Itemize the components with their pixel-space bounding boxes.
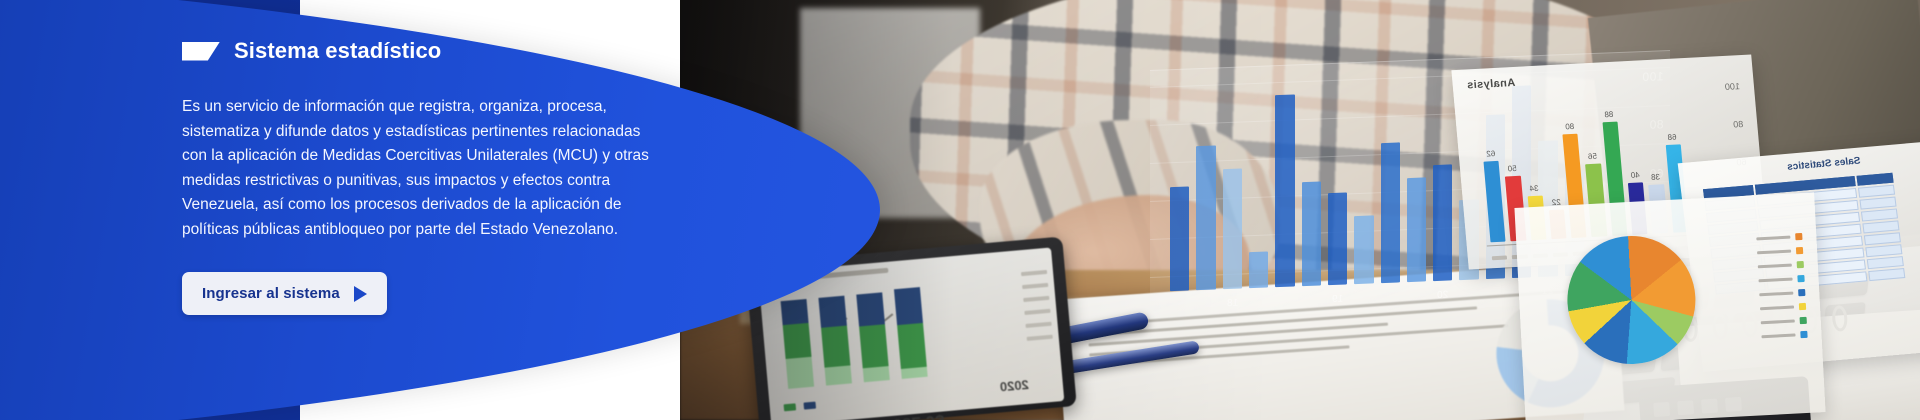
ar-chart-bar bbox=[1249, 251, 1268, 288]
ar-category-label: 19 bbox=[1328, 293, 1347, 305]
pie-legend-swatch bbox=[1795, 233, 1802, 240]
tablet-year-label: 2020 bbox=[999, 377, 1029, 394]
analysis-bar-value: 34 bbox=[1529, 184, 1539, 193]
enter-system-button[interactable]: Ingresar al sistema bbox=[182, 272, 387, 315]
analysis-axis-tick: 100 bbox=[1724, 81, 1740, 92]
ar-chart-bar bbox=[1275, 94, 1294, 287]
sales-statistics-title: Sales Statistics bbox=[1787, 156, 1861, 173]
tablet-bar-segment bbox=[825, 365, 852, 385]
pie-legend-item bbox=[1761, 317, 1807, 326]
table-cell bbox=[1867, 256, 1904, 269]
tablet-bar-segment bbox=[897, 323, 927, 369]
analysis-bar-value: 68 bbox=[1668, 132, 1678, 141]
ar-category-label bbox=[1459, 288, 1478, 300]
analysis-bar-value: 56 bbox=[1588, 152, 1598, 161]
ar-chart-bar bbox=[1170, 186, 1189, 291]
ar-category-label bbox=[1486, 287, 1505, 299]
ar-category-label: 18 bbox=[1223, 297, 1242, 309]
pie-legend-swatch bbox=[1797, 275, 1804, 282]
table-cell bbox=[1859, 197, 1896, 210]
pie-legend-item bbox=[1758, 275, 1804, 284]
tablet-bar-segment bbox=[859, 324, 889, 368]
tablet-bar-segment bbox=[783, 323, 812, 359]
analysis-bar-value: 62 bbox=[1486, 149, 1496, 158]
enter-system-button-label: Ingresar al sistema bbox=[202, 285, 340, 302]
ar-category-label bbox=[1196, 298, 1215, 310]
analysis-panel-title: Analysis bbox=[1466, 77, 1515, 91]
tablet-bar-segment bbox=[786, 357, 815, 389]
analysis-bar-value: 80 bbox=[1565, 122, 1575, 131]
pie-legend-label bbox=[1761, 333, 1795, 338]
legend-swatch-blue bbox=[803, 402, 816, 410]
hero-heading-row: Sistema estadístico bbox=[182, 38, 702, 64]
tablet-bar bbox=[818, 296, 852, 386]
pie-legend-label bbox=[1757, 250, 1791, 255]
tablet-bar-segment bbox=[863, 366, 890, 382]
pie-legend-label bbox=[1759, 278, 1793, 283]
table-cell bbox=[1861, 208, 1898, 221]
analysis-axis-tick: 80 bbox=[1728, 119, 1744, 130]
pie-legend-swatch bbox=[1797, 261, 1804, 268]
ar-chart-bar bbox=[1328, 192, 1347, 285]
tablet-stacked-bar-chart bbox=[780, 287, 927, 389]
ar-chart-bar bbox=[1196, 145, 1215, 290]
pie-chart-legend bbox=[1756, 233, 1807, 340]
table-cell bbox=[1868, 268, 1905, 281]
ar-category-label bbox=[1407, 290, 1426, 302]
ar-category-label: 20 bbox=[1433, 289, 1452, 301]
pie-legend-item bbox=[1759, 289, 1805, 298]
pie-legend-swatch bbox=[1798, 289, 1805, 296]
tablet-bar-segment bbox=[856, 292, 885, 326]
pie-legend-label bbox=[1758, 264, 1792, 269]
tablet-bar bbox=[894, 287, 928, 379]
table-cell bbox=[1862, 220, 1899, 233]
table-cell bbox=[1858, 185, 1895, 198]
ar-chart-bar bbox=[1223, 168, 1242, 289]
pie-legend-label bbox=[1756, 236, 1790, 241]
pie-legend-label bbox=[1760, 306, 1794, 311]
table-cell bbox=[1865, 244, 1902, 257]
analysis-bar: 62 bbox=[1484, 161, 1506, 242]
ar-category-label bbox=[1249, 296, 1268, 308]
tablet-bar-segment bbox=[821, 326, 850, 368]
play-triangle-icon bbox=[354, 286, 367, 302]
hero-banner: 2020 $6,789 10080604020 18192021 Analysi… bbox=[0, 0, 1920, 420]
table-cell bbox=[1857, 173, 1894, 186]
flag-parallelogram-icon bbox=[182, 42, 220, 61]
pie-chart-panel bbox=[1514, 192, 1825, 420]
page-title: Sistema estadístico bbox=[234, 38, 441, 64]
pie-legend-item bbox=[1758, 261, 1804, 270]
pie-legend-item bbox=[1761, 331, 1807, 340]
ar-category-label bbox=[1302, 294, 1321, 306]
pie-legend-swatch bbox=[1800, 331, 1807, 338]
ar-category-label bbox=[1170, 299, 1189, 311]
ar-chart-bar bbox=[1302, 181, 1321, 286]
ar-category-label bbox=[1381, 291, 1400, 303]
analysis-axis-labels: 1008060 bbox=[1724, 81, 1747, 167]
pie-legend-item bbox=[1756, 233, 1802, 242]
analysis-bar-value: 50 bbox=[1507, 164, 1517, 173]
pie-legend-label bbox=[1759, 292, 1793, 297]
tablet-bar-segment bbox=[894, 287, 923, 325]
pie-legend-item bbox=[1760, 303, 1806, 312]
tablet-bar bbox=[856, 292, 890, 382]
tablet-axis-labels bbox=[1021, 270, 1053, 341]
tablet-bar-segment bbox=[901, 367, 928, 379]
ar-category-label bbox=[1354, 292, 1373, 304]
analysis-bar-value: 88 bbox=[1604, 109, 1614, 118]
pie-legend-label bbox=[1761, 319, 1795, 324]
tablet-bar-segment bbox=[818, 296, 847, 328]
pie-chart bbox=[1564, 233, 1699, 368]
analysis-bar-value: 38 bbox=[1651, 172, 1661, 181]
pie-legend-item bbox=[1757, 247, 1803, 256]
tablet-bar-segment bbox=[781, 299, 809, 325]
analysis-category-tick bbox=[1492, 255, 1508, 260]
ar-chart-bar bbox=[1381, 142, 1400, 283]
hero-description: Es un servicio de información que regist… bbox=[182, 95, 667, 242]
tablet-bar bbox=[781, 299, 815, 389]
ar-chart-bar bbox=[1407, 177, 1426, 282]
hero-content: Sistema estadístico Es un servicio de in… bbox=[182, 38, 702, 315]
ar-category-label bbox=[1275, 295, 1294, 307]
legend-swatch-green bbox=[784, 403, 797, 411]
pie-legend-swatch bbox=[1799, 303, 1806, 310]
pie-legend-swatch bbox=[1800, 317, 1807, 324]
ar-chart-bar bbox=[1433, 164, 1452, 281]
ar-chart-bar bbox=[1354, 215, 1373, 284]
table-cell bbox=[1864, 232, 1901, 245]
analysis-bar-value: 40 bbox=[1630, 170, 1640, 179]
pie-legend-swatch bbox=[1796, 247, 1803, 254]
